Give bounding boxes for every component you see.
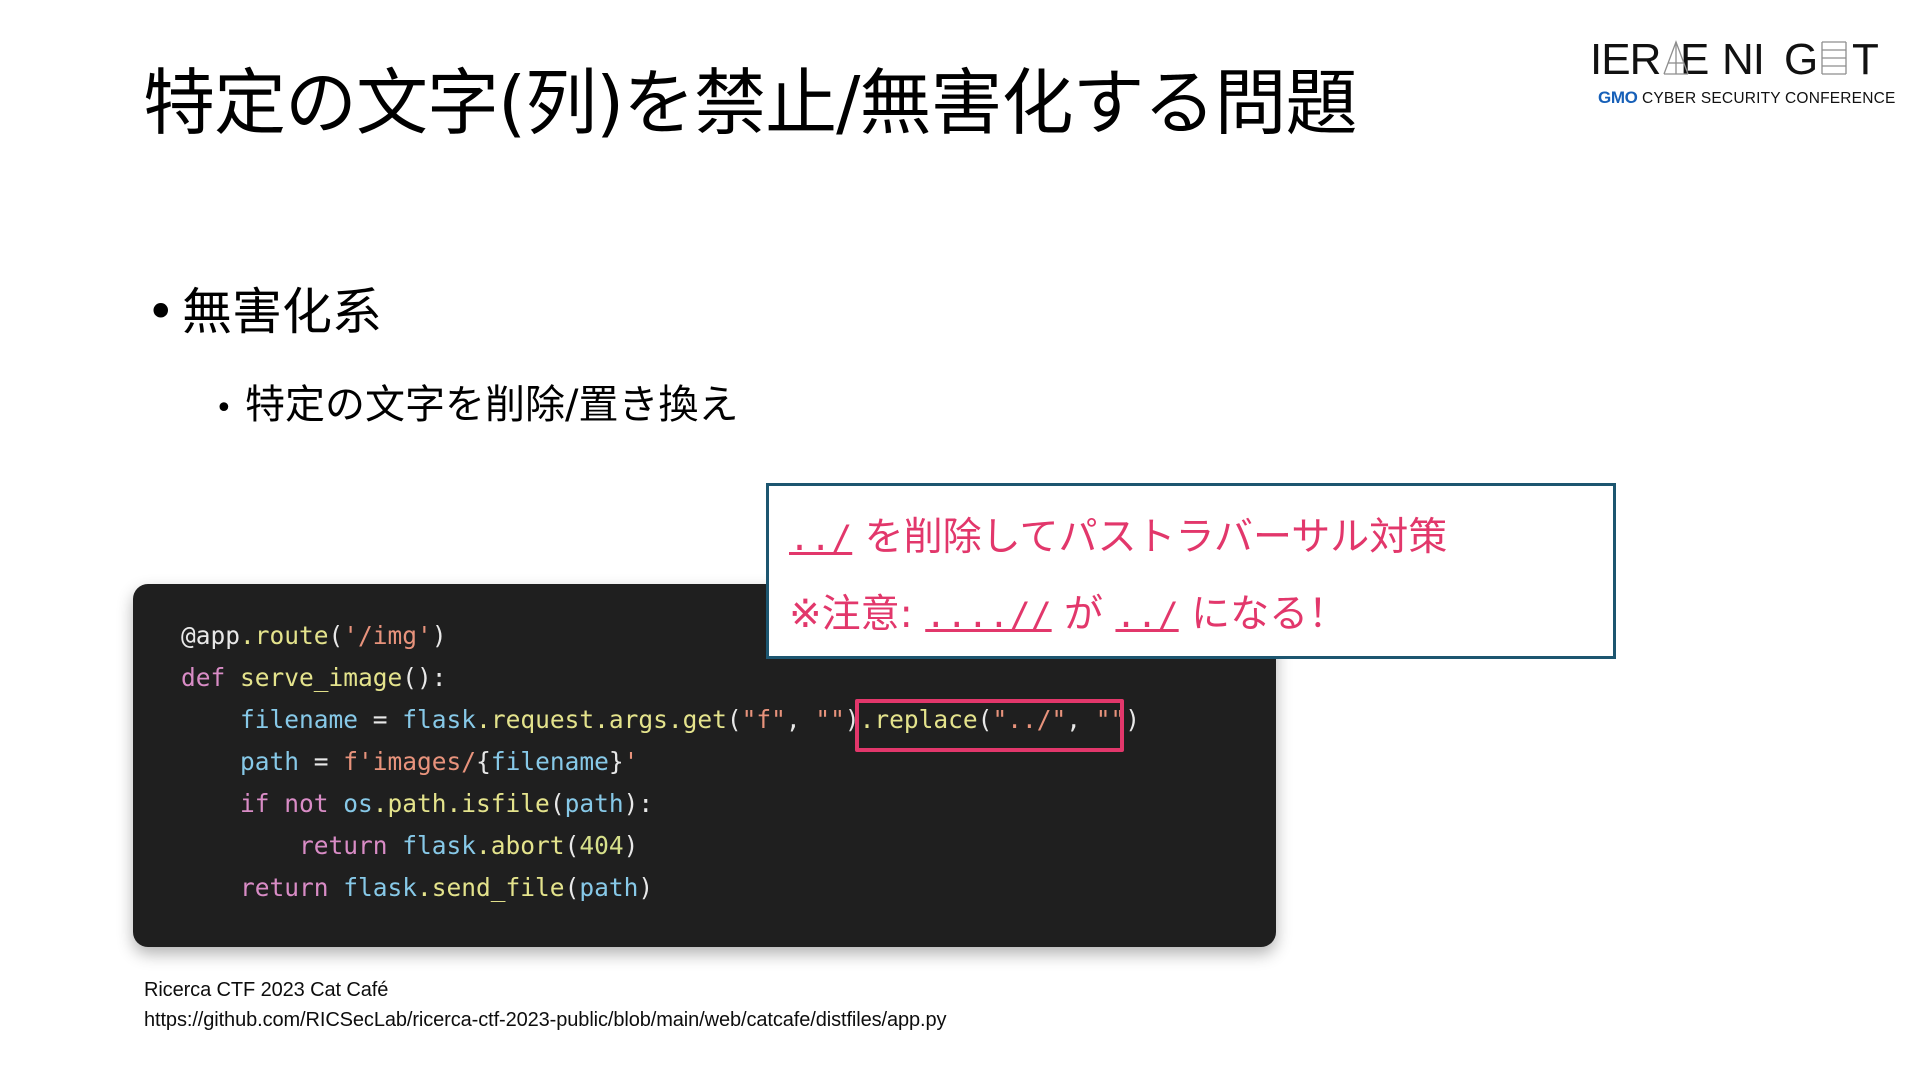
bullet-level1: •無害化系 [146, 272, 382, 344]
code-token: serve_image [240, 663, 402, 692]
code-line: path = f'images/{filename}' [181, 741, 1140, 783]
code-line: def serve_image(): [181, 657, 1140, 699]
code-token: ( [565, 873, 580, 902]
code-token: .send_file [417, 873, 565, 902]
callout-line-2: ※注意: ....// が ../ になる！ [789, 583, 1347, 639]
svg-text:T: T [1852, 35, 1878, 84]
callout-line-1: ../ を削除してパストラバーサル対策 [789, 506, 1447, 562]
bullet-level2-text: 特定の文字を削除/置き換え [245, 382, 738, 428]
bullet-level1-text: 無害化系 [182, 283, 382, 341]
code-token: ( [978, 705, 993, 734]
code-token: filename [491, 747, 609, 776]
code-token: ) [432, 621, 447, 650]
code-token: ) [845, 705, 860, 734]
gmo-wordmark: GMO [1598, 88, 1637, 107]
logo-wordmark-svg: IER E NI G T [1572, 34, 1882, 86]
code-token [181, 747, 240, 776]
code-source: @app.route('/img')def serve_image(): fil… [181, 615, 1140, 909]
code-token: = [358, 705, 402, 734]
code-line: return flask.abort(404) [181, 825, 1140, 867]
citation-url[interactable]: https://github.com/RICSecLab/ricerca-ctf… [144, 1005, 946, 1035]
code-token: .abort [476, 831, 565, 860]
slide-title: 特定の文字(列)を禁止/無害化する問題 [143, 58, 1356, 148]
callout-line-1-text: を削除してパストラバーサル対策 [852, 515, 1447, 560]
slide-canvas: IER E NI G T [0, 0, 1920, 1080]
callout-code-fourdots: ....// [925, 596, 1051, 636]
code-token: .replace [860, 705, 978, 734]
code-token: .route [240, 621, 329, 650]
code-token: ) [638, 873, 653, 902]
code-token: ) [624, 831, 639, 860]
code-token: ( [329, 621, 344, 650]
code-token: if not [240, 789, 343, 818]
code-line: if not os.path.isfile(path): [181, 783, 1140, 825]
code-token: "" [1096, 705, 1126, 734]
code-token: } [609, 747, 624, 776]
logo-wordmark: IER E NI G T [1572, 34, 1882, 84]
code-token: "" [815, 705, 845, 734]
source-citation: Ricerca CTF 2023 Cat Café https://github… [144, 975, 946, 1035]
code-line: return flask.send_file(path) [181, 867, 1140, 909]
code-token [181, 873, 240, 902]
code-token: filename [240, 705, 358, 734]
code-token: '/img' [343, 621, 432, 650]
code-token: , [786, 705, 816, 734]
code-token: return [240, 873, 343, 902]
code-token: flask [402, 705, 476, 734]
callout-box: ../ を削除してパストラバーサル対策 ※注意: ....// が ../ にな… [766, 483, 1616, 659]
code-token: ' [624, 747, 639, 776]
code-token: os [343, 789, 373, 818]
ierae-night-logo: IER E NI G T [1572, 34, 1882, 112]
code-token: .path.isfile [373, 789, 550, 818]
code-token: flask [343, 873, 417, 902]
code-token: ( [727, 705, 742, 734]
citation-title: Ricerca CTF 2023 Cat Café [144, 975, 946, 1005]
code-token: .request.args.get [476, 705, 727, 734]
code-token: "../" [992, 705, 1066, 734]
callout-line-2-mid: が [1052, 592, 1116, 637]
code-token: (): [402, 663, 446, 692]
bullet-marker-icon: • [146, 283, 182, 341]
bullet-marker-icon: • [215, 391, 245, 426]
code-token: path [565, 789, 624, 818]
callout-code-dotdotslash-2: ../ [1115, 596, 1178, 636]
code-token: { [476, 747, 491, 776]
svg-text:NI: NI [1722, 35, 1764, 84]
code-token [181, 705, 240, 734]
code-token: f'images/ [343, 747, 476, 776]
code-token: path [240, 747, 299, 776]
callout-code-dotdotslash: ../ [789, 519, 852, 559]
code-token: , [1066, 705, 1096, 734]
svg-text:IER: IER [1590, 35, 1660, 84]
code-token: 404 [579, 831, 623, 860]
code-token: @app [181, 621, 240, 650]
code-token: return [299, 831, 402, 860]
code-token: ) [1125, 705, 1140, 734]
code-token: flask [402, 831, 476, 860]
logo-subtitle: GMO CYBER SECURITY CONFERENCE [1598, 88, 1896, 108]
svg-text:E: E [1680, 35, 1708, 84]
code-token: "f" [742, 705, 786, 734]
code-line: filename = flask.request.args.get("f", "… [181, 699, 1140, 741]
code-token: ( [565, 831, 580, 860]
code-token: = [299, 747, 343, 776]
code-token: path [579, 873, 638, 902]
code-token [181, 789, 240, 818]
svg-text:G: G [1784, 35, 1817, 84]
code-token: ( [550, 789, 565, 818]
bullet-level2: •特定の文字を削除/置き換え [215, 372, 738, 430]
code-token [181, 831, 299, 860]
code-token: def [181, 663, 240, 692]
code-token: ): [624, 789, 654, 818]
callout-line-2-suffix: になる！ [1179, 592, 1347, 637]
conference-label: CYBER SECURITY CONFERENCE [1642, 90, 1896, 107]
callout-line-2-prefix: ※注意: [789, 592, 925, 637]
